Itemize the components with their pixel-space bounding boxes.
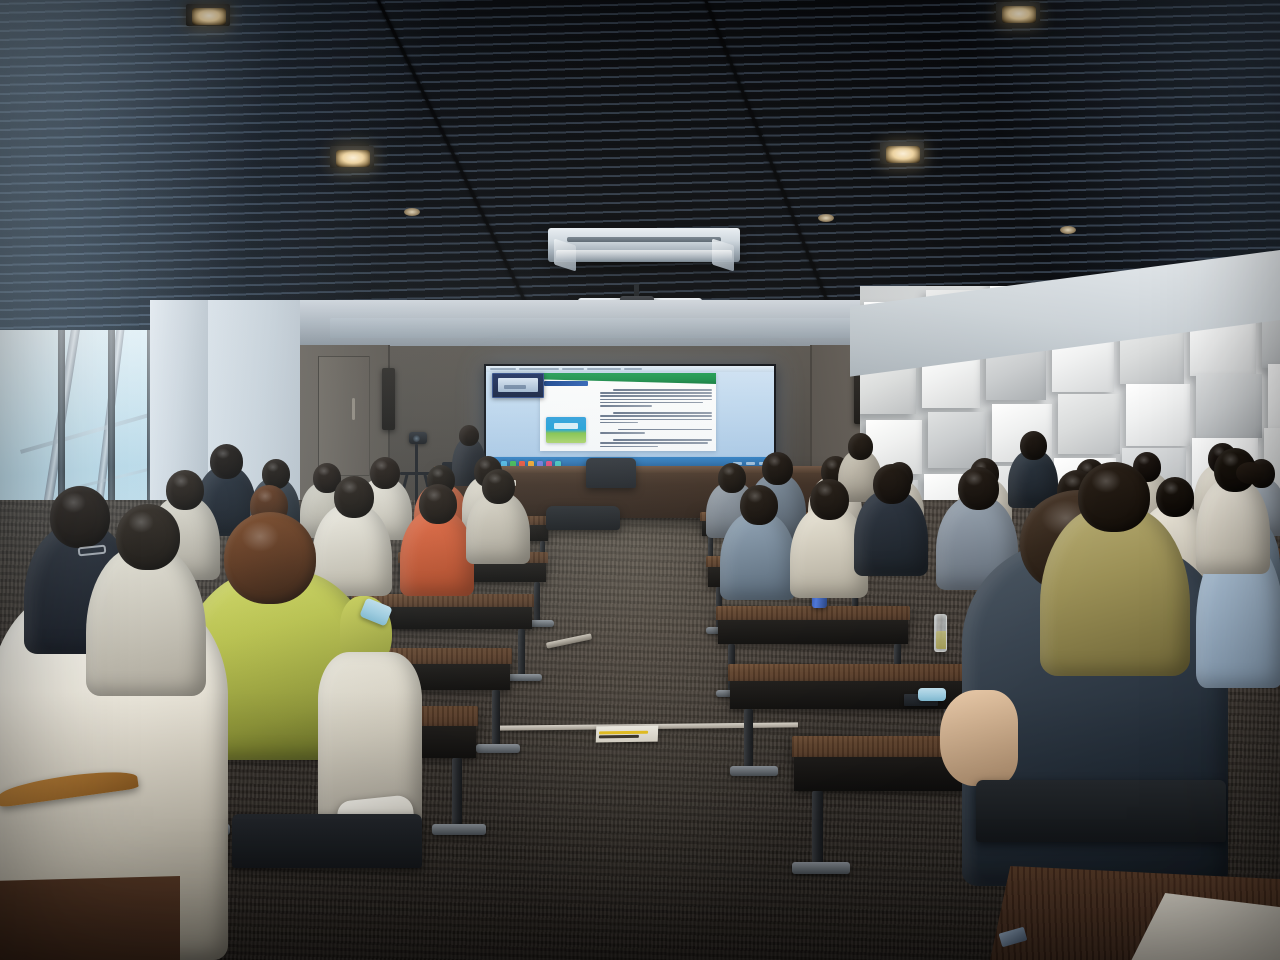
attendee xyxy=(86,546,206,696)
browser-chrome-bar xyxy=(486,366,774,372)
front-door[interactable] xyxy=(318,356,370,476)
screen-content xyxy=(486,366,774,470)
desk-foot xyxy=(506,674,542,681)
desk-apron xyxy=(718,620,908,644)
ceiling-downlight xyxy=(336,150,370,167)
projection-screen[interactable] xyxy=(484,364,776,472)
desk-foot xyxy=(730,766,778,776)
ceiling-downlight xyxy=(886,146,920,163)
desk-leg xyxy=(534,582,540,622)
attendee xyxy=(466,492,530,564)
ceiling-cassette-ac-front xyxy=(548,228,740,262)
classroom-desk xyxy=(716,606,910,620)
door-handle[interactable] xyxy=(352,398,355,420)
video-call-thumbnail[interactable] xyxy=(492,373,544,398)
attendee xyxy=(854,490,928,576)
presenter-chair[interactable] xyxy=(586,458,636,488)
glass-water-bottle xyxy=(934,614,947,652)
desk-foot xyxy=(792,862,850,874)
ceiling-light-reflection-left xyxy=(0,0,480,350)
ceiling-downlight-small xyxy=(818,214,834,222)
document-title xyxy=(544,381,588,386)
attendee xyxy=(1196,478,1270,574)
chair-back xyxy=(546,506,620,530)
desk-leg xyxy=(518,629,525,677)
chair-back xyxy=(976,780,1226,842)
soffit-recess xyxy=(330,318,870,338)
wall-speaker-left xyxy=(382,368,395,430)
floor-distance-marker xyxy=(596,726,659,743)
surgical-mask xyxy=(918,688,946,701)
attendee xyxy=(400,510,474,596)
desk-foot xyxy=(432,824,486,835)
camera-head xyxy=(409,432,427,444)
document-body-text xyxy=(600,389,712,449)
attendee xyxy=(720,512,796,600)
desk-leg xyxy=(812,791,823,869)
ceiling-downlight xyxy=(192,8,226,25)
desk-foot xyxy=(476,744,520,753)
ceiling-seam-right xyxy=(700,0,860,350)
ceiling-downlight-small xyxy=(404,208,420,216)
ceiling-downlight-small xyxy=(1060,226,1076,234)
classroom-photo-scene xyxy=(0,0,1280,960)
book-cover-graphic xyxy=(546,417,586,443)
attendee-arm xyxy=(940,690,1018,786)
attendee xyxy=(1040,506,1190,676)
desk-leg xyxy=(492,690,500,748)
chair-back xyxy=(232,814,422,868)
desk-leg xyxy=(452,758,462,830)
classroom-desk xyxy=(728,664,964,681)
projected-document xyxy=(540,373,716,451)
hair-bun xyxy=(1236,462,1264,484)
foreground-desk-left xyxy=(0,876,180,960)
ceiling-downlight xyxy=(1002,6,1036,23)
desk-leg xyxy=(744,709,753,771)
